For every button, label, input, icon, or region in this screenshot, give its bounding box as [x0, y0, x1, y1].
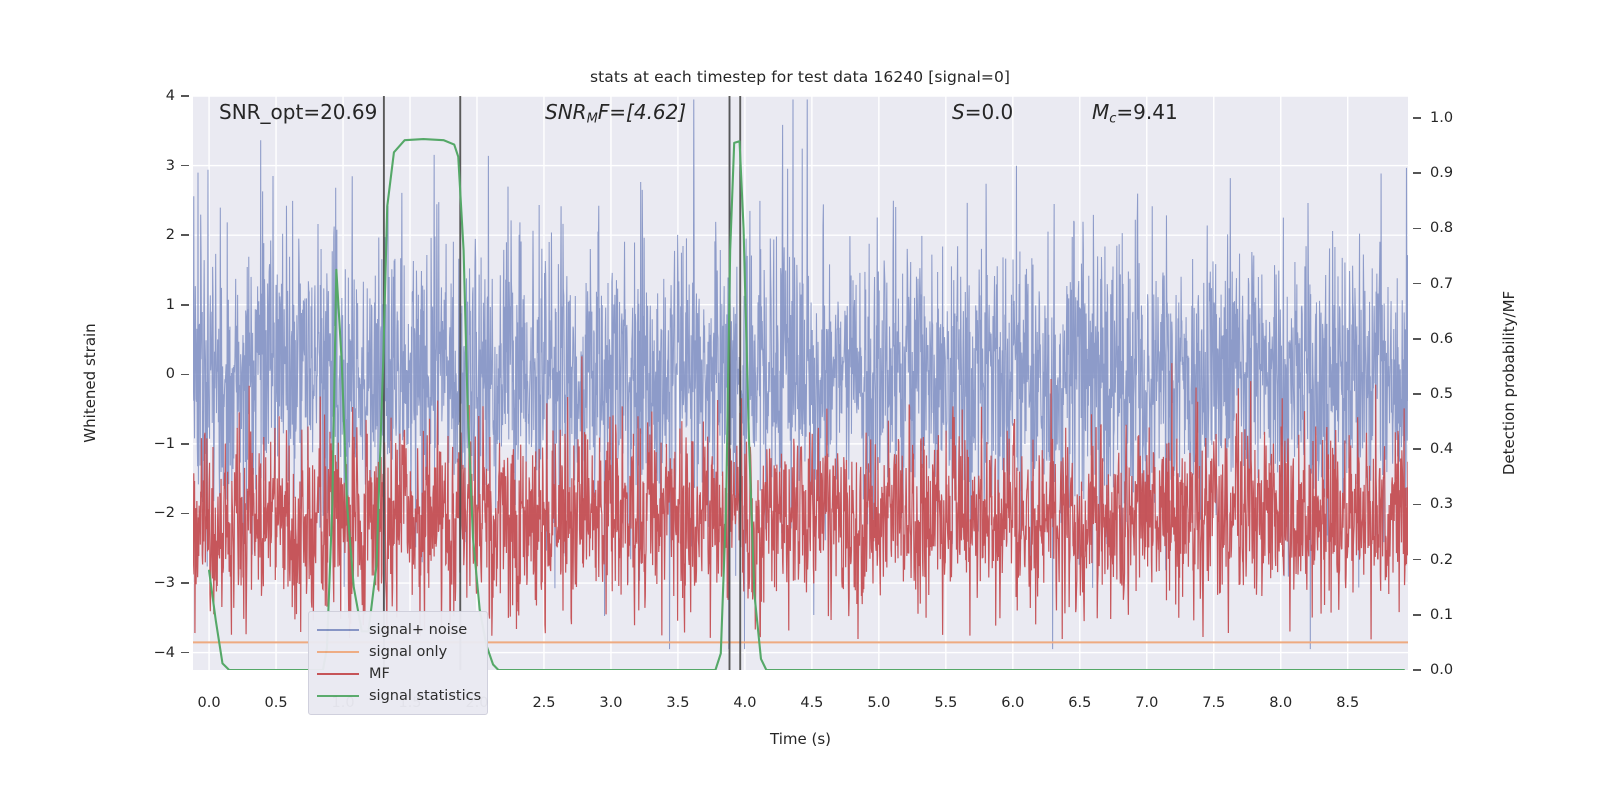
x-tick-label: 5.5: [934, 695, 957, 711]
legend-item[interactable]: signal only: [317, 641, 479, 663]
legend-item-label: MF: [369, 666, 390, 682]
x-tick-label: 7.0: [1135, 695, 1158, 711]
y-tick-mark-left: [181, 304, 189, 306]
y-tick-mark-right: [1413, 283, 1421, 285]
x-tick-label: 4.0: [733, 695, 756, 711]
legend-item[interactable]: signal+ noise: [317, 619, 479, 641]
y-tick-mark-right: [1413, 117, 1421, 119]
y-tick-label-left: −3: [137, 575, 175, 591]
legend-item[interactable]: MF: [317, 663, 479, 685]
y-tick-mark-left: [181, 582, 189, 584]
annotation-s-value: =0.0: [965, 100, 1014, 124]
y-tick-label-right: 0.3: [1430, 496, 1472, 512]
legend-swatch-line-icon: [317, 651, 359, 653]
legend-swatch-line-icon: [317, 695, 359, 697]
y-tick-mark-left: [181, 165, 189, 167]
x-tick-label: 3.5: [666, 695, 689, 711]
legend-swatch-line-icon: [317, 673, 359, 675]
y-tick-label-right: 0.8: [1430, 220, 1472, 236]
y-tick-mark-left: [181, 513, 189, 515]
y-tick-label-left: 1: [137, 297, 175, 313]
x-tick-label: 6.5: [1068, 695, 1091, 711]
y-tick-label-right: 0.0: [1430, 662, 1472, 678]
legend-item-label: signal+ noise: [369, 622, 467, 638]
y-tick-mark-left: [181, 234, 189, 236]
annotation-mc-symbol: M: [1092, 100, 1109, 124]
plot-area[interactable]: [193, 96, 1408, 670]
x-tick-label: 6.0: [1001, 695, 1024, 711]
annotation-snr-mf-subscript: M: [587, 111, 598, 126]
y-tick-mark-right: [1413, 228, 1421, 230]
y-tick-mark-left: [181, 443, 189, 445]
y-tick-label-right: 0.4: [1430, 441, 1472, 457]
y-tick-label-right: 0.6: [1430, 331, 1472, 347]
annotation-snr-mf-prefix: SNR: [545, 100, 587, 124]
y-tick-label-right: 0.9: [1430, 165, 1472, 181]
y-tick-label-left: −2: [137, 505, 175, 521]
y-axis-label-right: Detection probability/MF: [1500, 291, 1518, 475]
y-tick-mark-right: [1413, 559, 1421, 561]
legend-item-label: signal only: [369, 644, 447, 660]
y-tick-label-left: 4: [137, 88, 175, 104]
annotation-mc-value: =9.41: [1116, 100, 1177, 124]
x-axis-label: Time (s): [193, 730, 1408, 748]
y-tick-label-left: −4: [137, 645, 175, 661]
annotation-mc: Mc=9.41: [1092, 100, 1178, 126]
annotation-s: S=0.0: [952, 100, 1013, 124]
y-tick-label-left: 3: [137, 158, 175, 174]
legend-swatch-line-icon: [317, 629, 359, 631]
x-tick-label: 4.5: [800, 695, 823, 711]
legend-item-label: signal statistics: [369, 688, 481, 704]
y-tick-label-right: 0.2: [1430, 552, 1472, 568]
x-tick-label: 8.5: [1336, 695, 1359, 711]
x-tick-label: 0.0: [198, 695, 221, 711]
x-tick-label: 7.5: [1202, 695, 1225, 711]
y-tick-label-left: 0: [137, 366, 175, 382]
x-tick-label: 3.0: [599, 695, 622, 711]
x-tick-label: 0.5: [265, 695, 288, 711]
chart-title: stats at each timestep for test data 162…: [0, 68, 1600, 86]
y-tick-label-right: 0.7: [1430, 276, 1472, 292]
legend-item[interactable]: signal statistics: [317, 685, 479, 707]
annotation-snr-opt: SNR_opt=20.69: [219, 100, 377, 124]
chart-legend[interactable]: signal+ noisesignal onlyMFsignal statist…: [308, 611, 488, 715]
figure-canvas: stats at each timestep for test data 162…: [0, 0, 1600, 800]
y-tick-mark-right: [1413, 393, 1421, 395]
y-axis-label-left: Whitened strain: [81, 323, 99, 442]
x-tick-label: 5.0: [867, 695, 890, 711]
y-tick-mark-left: [181, 95, 189, 97]
y-tick-label-right: 0.5: [1430, 386, 1472, 402]
y-tick-label-right: 0.1: [1430, 607, 1472, 623]
y-tick-mark-right: [1413, 504, 1421, 506]
y-tick-mark-left: [181, 374, 189, 376]
y-tick-mark-left: [181, 652, 189, 654]
annotation-s-symbol: S: [952, 100, 965, 124]
x-tick-label: 2.5: [532, 695, 555, 711]
y-tick-mark-right: [1413, 338, 1421, 340]
y-tick-mark-right: [1413, 172, 1421, 174]
y-tick-mark-right: [1413, 669, 1421, 671]
plot-svg: [193, 96, 1408, 670]
y-tick-label-right: 1.0: [1430, 110, 1472, 126]
y-tick-label-left: 2: [137, 227, 175, 243]
y-tick-mark-right: [1413, 614, 1421, 616]
x-tick-label: 8.0: [1269, 695, 1292, 711]
y-tick-label-left: −1: [137, 436, 175, 452]
y-tick-mark-right: [1413, 448, 1421, 450]
annotation-snr-mf-value: F=[4.62]: [598, 100, 686, 124]
annotation-snr-mf: SNRMF=[4.62]: [545, 100, 686, 126]
